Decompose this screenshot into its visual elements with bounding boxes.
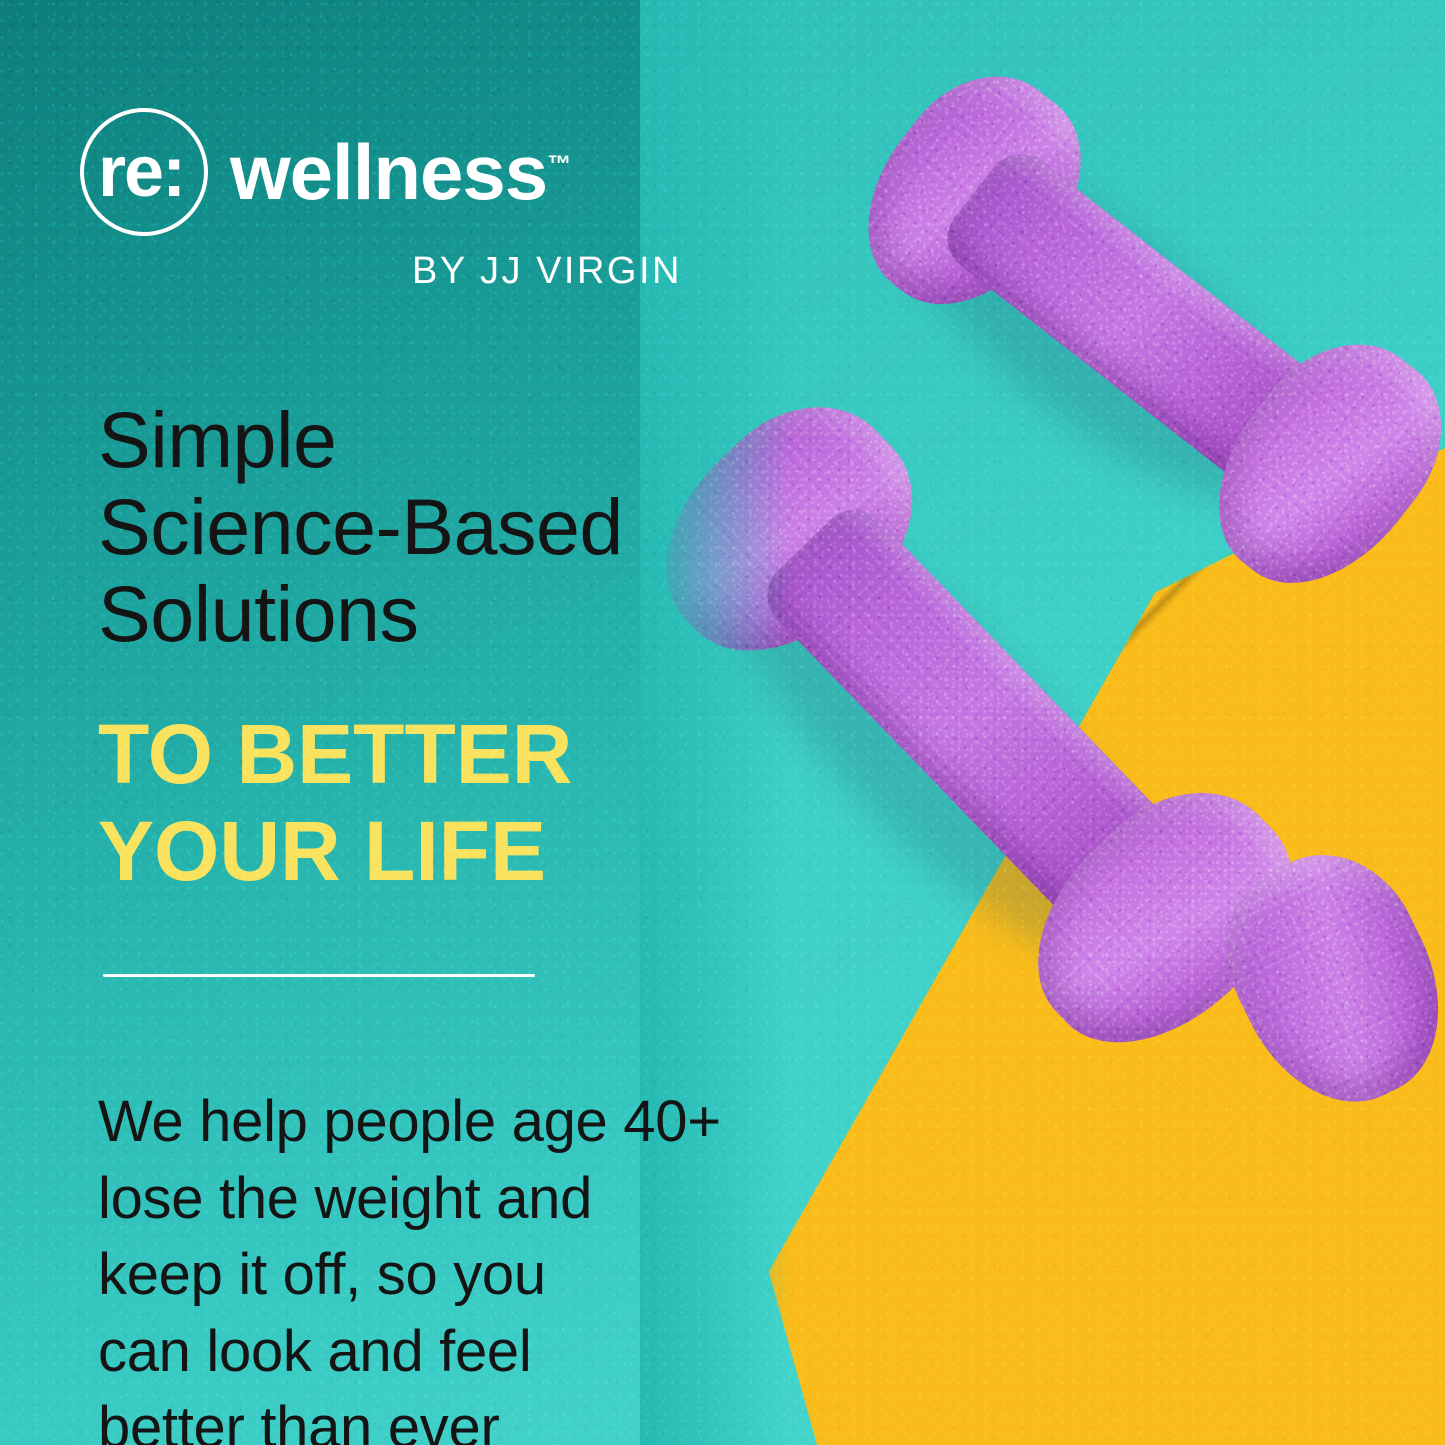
logo-wordmark-row: re: wellness™ (80, 108, 740, 236)
emphasis-heading: TO BETTER YOUR LIFE (98, 706, 572, 899)
body-line-1: We help people age 40+ (98, 1084, 721, 1161)
brand-logo: re: wellness™ BY JJ VIRGIN (80, 108, 740, 293)
divider-rule (103, 974, 535, 977)
body-line-5: better than ever (98, 1390, 721, 1445)
re-mark-text: re: (98, 136, 184, 208)
promo-graphic: re: wellness™ BY JJ VIRGIN Simple Scienc… (0, 0, 1445, 1445)
emphasis-line-2: YOUR LIFE (98, 803, 572, 900)
trademark-icon: ™ (547, 151, 571, 178)
text-column: re: wellness™ BY JJ VIRGIN Simple Scienc… (0, 0, 700, 1445)
brand-name-text: wellness (230, 128, 547, 216)
brand-byline: BY JJ VIRGIN (80, 250, 700, 293)
emphasis-line-1: TO BETTER (98, 706, 572, 803)
brand-name: wellness™ (230, 133, 571, 211)
dumbbell-photo (640, 0, 1445, 1445)
body-paragraph: We help people age 40+ lose the weight a… (98, 1084, 721, 1445)
body-line-4: can look and feel (98, 1314, 721, 1391)
body-line-2: lose the weight and (98, 1161, 721, 1238)
headline-line-3: Solutions (98, 571, 623, 658)
re-circle-icon: re: (80, 108, 208, 236)
body-line-3: keep it off, so you (98, 1237, 721, 1314)
headline-line-2: Science-Based (98, 484, 623, 571)
page-title: Simple Science-Based Solutions (98, 397, 623, 658)
headline-line-1: Simple (98, 397, 623, 484)
